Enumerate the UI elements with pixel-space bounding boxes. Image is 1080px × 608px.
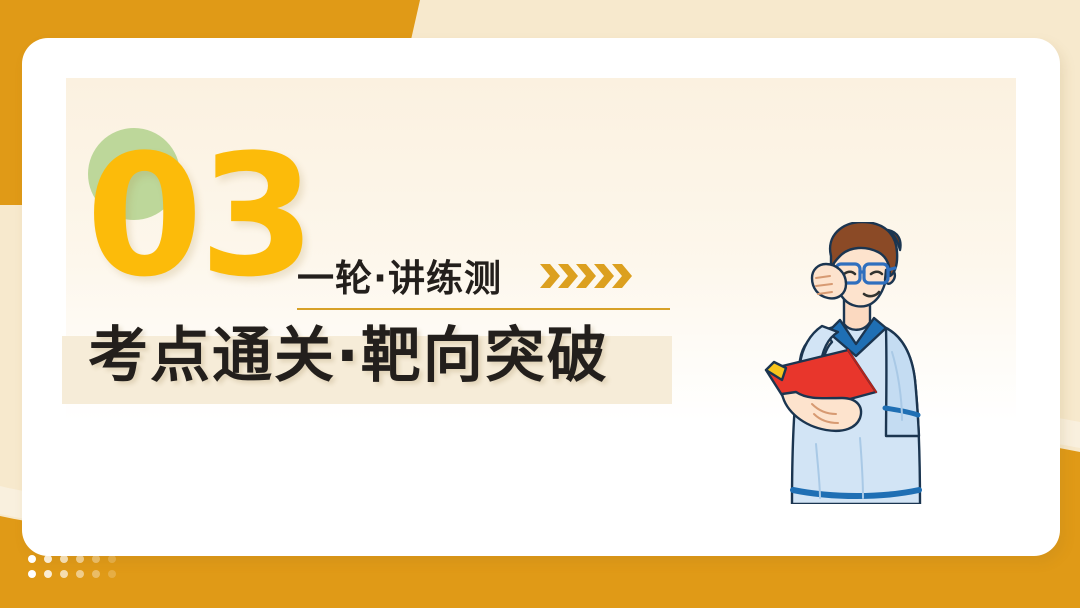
subtitle-row: 一轮·讲练测 [297,248,640,302]
page-title: 考点通关·靶向突破 [88,326,609,386]
section-number: 03 [86,132,312,300]
subtitle-text: 一轮·讲练测 [297,248,502,302]
chevron-arrows-icon [540,263,640,289]
slide-content: 03 一轮·讲练测 考点通关·靶向突破 [0,0,1080,608]
slide-canvas: 03 一轮·讲练测 考点通关·靶向突破 [0,0,1080,608]
dot-grid-decoration [28,540,124,585]
student-illustration [752,222,968,504]
subtitle-divider [297,308,670,310]
